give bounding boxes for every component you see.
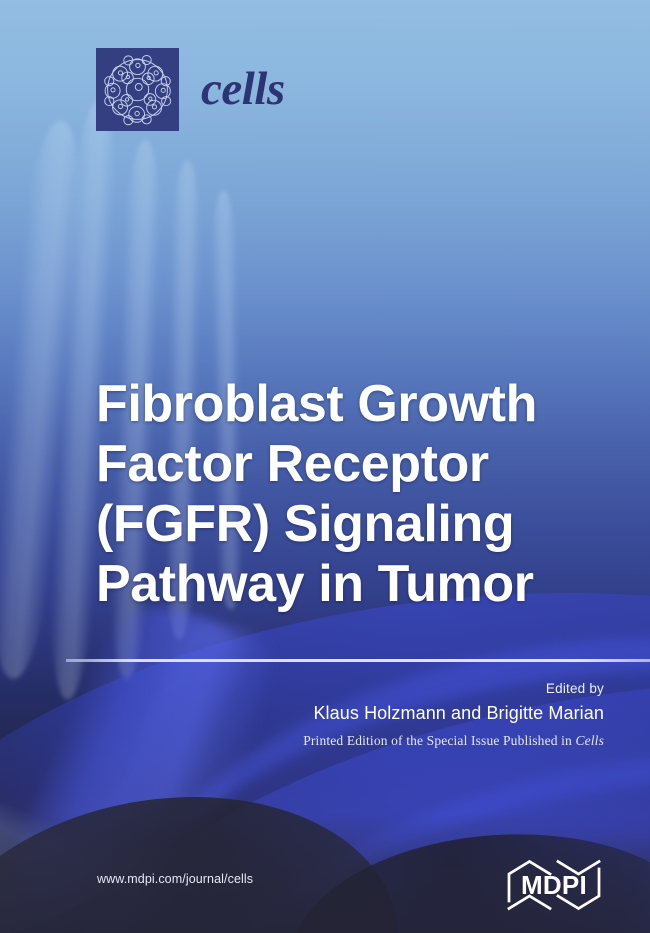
book-cover: cells Fibroblast Growth Factor Receptor … bbox=[0, 0, 650, 933]
journal-url[interactable]: www.mdpi.com/journal/cells bbox=[97, 872, 253, 886]
editors-block: Edited by Klaus Holzmann and Brigitte Ma… bbox=[303, 679, 604, 752]
title-line-4: Pathway in Tumor bbox=[96, 554, 616, 614]
special-issue-note: Printed Edition of the Special Issue Pub… bbox=[303, 730, 604, 752]
book-title: Fibroblast Growth Factor Receptor (FGFR)… bbox=[96, 374, 616, 614]
cells-cluster-icon bbox=[96, 48, 179, 131]
mdpi-hexagon-logo: MDPI bbox=[498, 859, 610, 911]
journal-wordmark: cells bbox=[201, 66, 285, 113]
special-issue-note-text: Printed Edition of the Special Issue Pub… bbox=[303, 733, 575, 748]
edited-by-label: Edited by bbox=[303, 679, 604, 699]
title-divider-rule bbox=[66, 659, 650, 662]
title-line-2: Factor Receptor bbox=[96, 434, 616, 494]
special-issue-journal-name: Cells bbox=[575, 733, 604, 748]
title-line-3: (FGFR) Signaling bbox=[96, 494, 616, 554]
mdpi-logo-text: MDPI bbox=[521, 870, 587, 900]
title-line-1: Fibroblast Growth bbox=[96, 374, 616, 434]
journal-logo: cells bbox=[96, 48, 285, 131]
editor-names: Klaus Holzmann and Brigitte Marian bbox=[303, 700, 604, 728]
